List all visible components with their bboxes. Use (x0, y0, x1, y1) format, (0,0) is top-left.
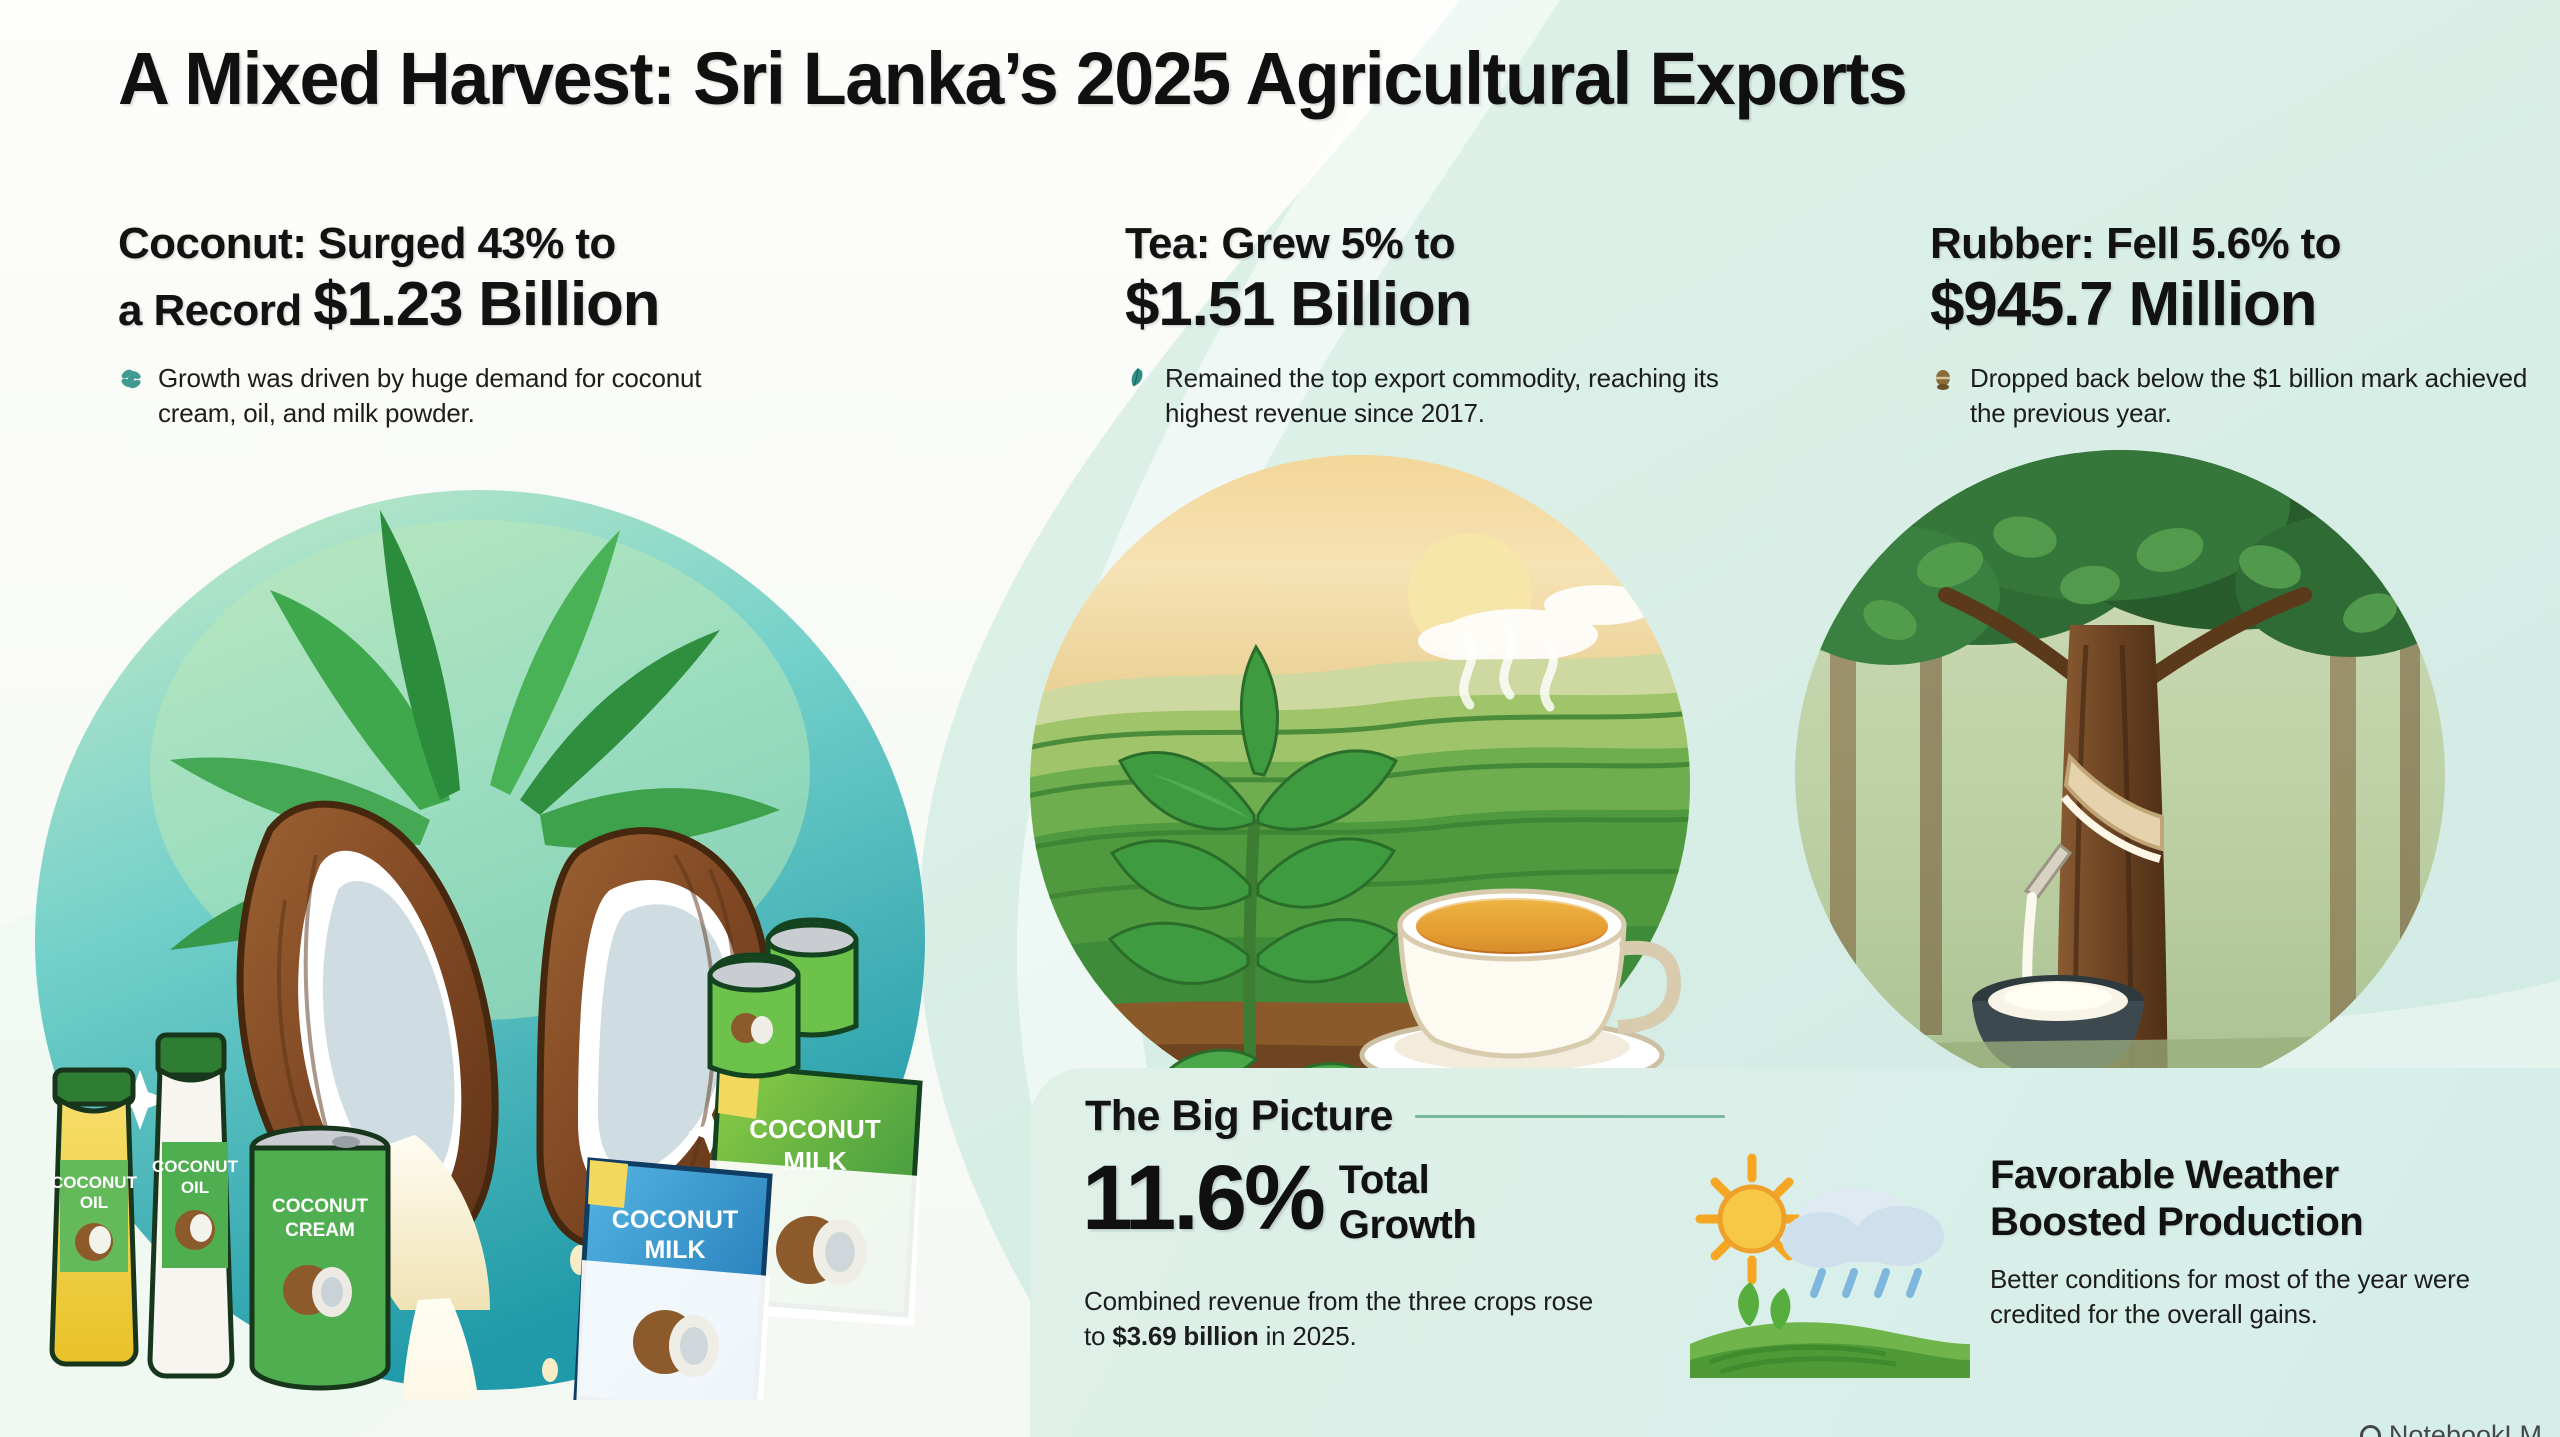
total-growth-line1: Total (1339, 1158, 1430, 1202)
cloud-icon (1782, 1188, 1944, 1268)
coconut-value: $1.23 Billion (313, 270, 659, 339)
note-value: $3.69 billion (1112, 1321, 1258, 1351)
watermark: NotebookLM (2360, 1420, 2542, 1437)
page-title: A Mixed Harvest: Sri Lanka’s 2025 Agricu… (118, 36, 1906, 121)
rubber-caption-text: Dropped back below the $1 billion mark a… (1970, 361, 2530, 430)
product-coconut-milk-pack-blue: COCONUT MILK (576, 1160, 770, 1400)
svg-text:OIL: OIL (181, 1178, 209, 1197)
coconut-products-illustration: COCONUT OIL COCONUT OIL COCONUT CREAM (20, 470, 980, 1400)
big-picture-title: The Big Picture (1085, 1092, 1393, 1141)
combined-revenue-note: Combined revenue from the three crops ro… (1084, 1284, 1604, 1354)
tea-heading-line1: Tea: Grew 5% to (1125, 219, 1455, 268)
column-tea: Tea: Grew 5% to $1.51 Billion Remained t… (1125, 218, 1745, 430)
watermark-label: NotebookLM (2389, 1420, 2542, 1437)
tea-caption: Remained the top export commodity, reach… (1125, 361, 1745, 430)
svg-text:COCONUT: COCONUT (749, 1114, 881, 1144)
big-picture-title-row: The Big Picture (1085, 1092, 1725, 1141)
svg-text:COCONUT: COCONUT (272, 1196, 368, 1217)
tea-heading: Tea: Grew 5% to $1.51 Billion (1125, 218, 1745, 341)
tea-plantation-illustration (1000, 455, 1720, 1145)
total-growth-line2: Growth (1339, 1203, 1477, 1247)
tea-caption-text: Remained the top export commodity, reach… (1165, 361, 1725, 430)
total-growth-percent: 11.6% (1082, 1154, 1323, 1242)
rubber-tap-icon (1930, 366, 1956, 430)
svg-text:COCONUT: COCONUT (51, 1173, 138, 1192)
field-icon (1690, 1282, 1970, 1378)
coconut-heading-prefix: a Record (118, 286, 313, 335)
svg-text:CREAM: CREAM (285, 1220, 355, 1241)
tea-value: $1.51 Billion (1125, 270, 1471, 339)
svg-text:MILK: MILK (644, 1236, 705, 1264)
svg-text:COCONUT: COCONUT (612, 1206, 738, 1234)
svg-text:OIL: OIL (80, 1193, 108, 1212)
svg-text:COCONUT: COCONUT (152, 1157, 239, 1176)
coconut-caption-text: Growth was driven by huge demand for coc… (158, 361, 718, 430)
total-growth-label: Total Growth (1339, 1158, 1477, 1248)
weather-note: Better conditions for most of the year w… (1990, 1262, 2520, 1331)
coconut-heading-line1: Coconut: Surged 43% to (118, 219, 616, 268)
rubber-tapping-illustration (1770, 445, 2470, 1125)
weather-heading-line1: Favorable Weather (1990, 1153, 2339, 1197)
rubber-value: $945.7 Million (1930, 270, 2316, 339)
tea-leaf-icon (1125, 366, 1151, 430)
rain-icon (1814, 1272, 1918, 1294)
weather-block: Favorable Weather Boosted Production Bet… (1990, 1152, 2520, 1332)
notebooklm-logo-icon (2360, 1425, 2381, 1437)
column-rubber: Rubber: Fell 5.6% to $945.7 Million Drop… (1930, 218, 2550, 430)
total-growth-stat: 11.6% Total Growth (1082, 1154, 1476, 1248)
weather-heading-line2: Boosted Production (1990, 1200, 2363, 1244)
svg-text:MILK: MILK (783, 1146, 847, 1176)
rubber-heading: Rubber: Fell 5.6% to $945.7 Million (1930, 218, 2550, 341)
column-coconut: Coconut: Surged 43% to a Record $1.23 Bi… (118, 218, 818, 430)
coconut-caption: Growth was driven by huge demand for coc… (118, 361, 818, 430)
rubber-caption: Dropped back below the $1 billion mark a… (1930, 361, 2550, 430)
rubber-heading-line1: Rubber: Fell 5.6% to (1930, 219, 2341, 268)
title-divider (1415, 1115, 1725, 1118)
sun-cloud-rain-field-icon (1690, 1148, 1970, 1378)
big-picture-panel: The Big Picture 11.6% Total Growth Combi… (1030, 1068, 2560, 1437)
product-coconut-oil-bottle-1: COCONUT OIL (51, 1070, 138, 1364)
coconut-heading: Coconut: Surged 43% to a Record $1.23 Bi… (118, 218, 818, 341)
product-coconut-cream-can: COCONUT CREAM (252, 1128, 388, 1388)
weather-heading: Favorable Weather Boosted Production (1990, 1152, 2520, 1246)
sun-icon (1700, 1158, 1804, 1280)
note-post: in 2025. (1259, 1321, 1357, 1351)
leaf-cluster-icon (118, 366, 144, 430)
